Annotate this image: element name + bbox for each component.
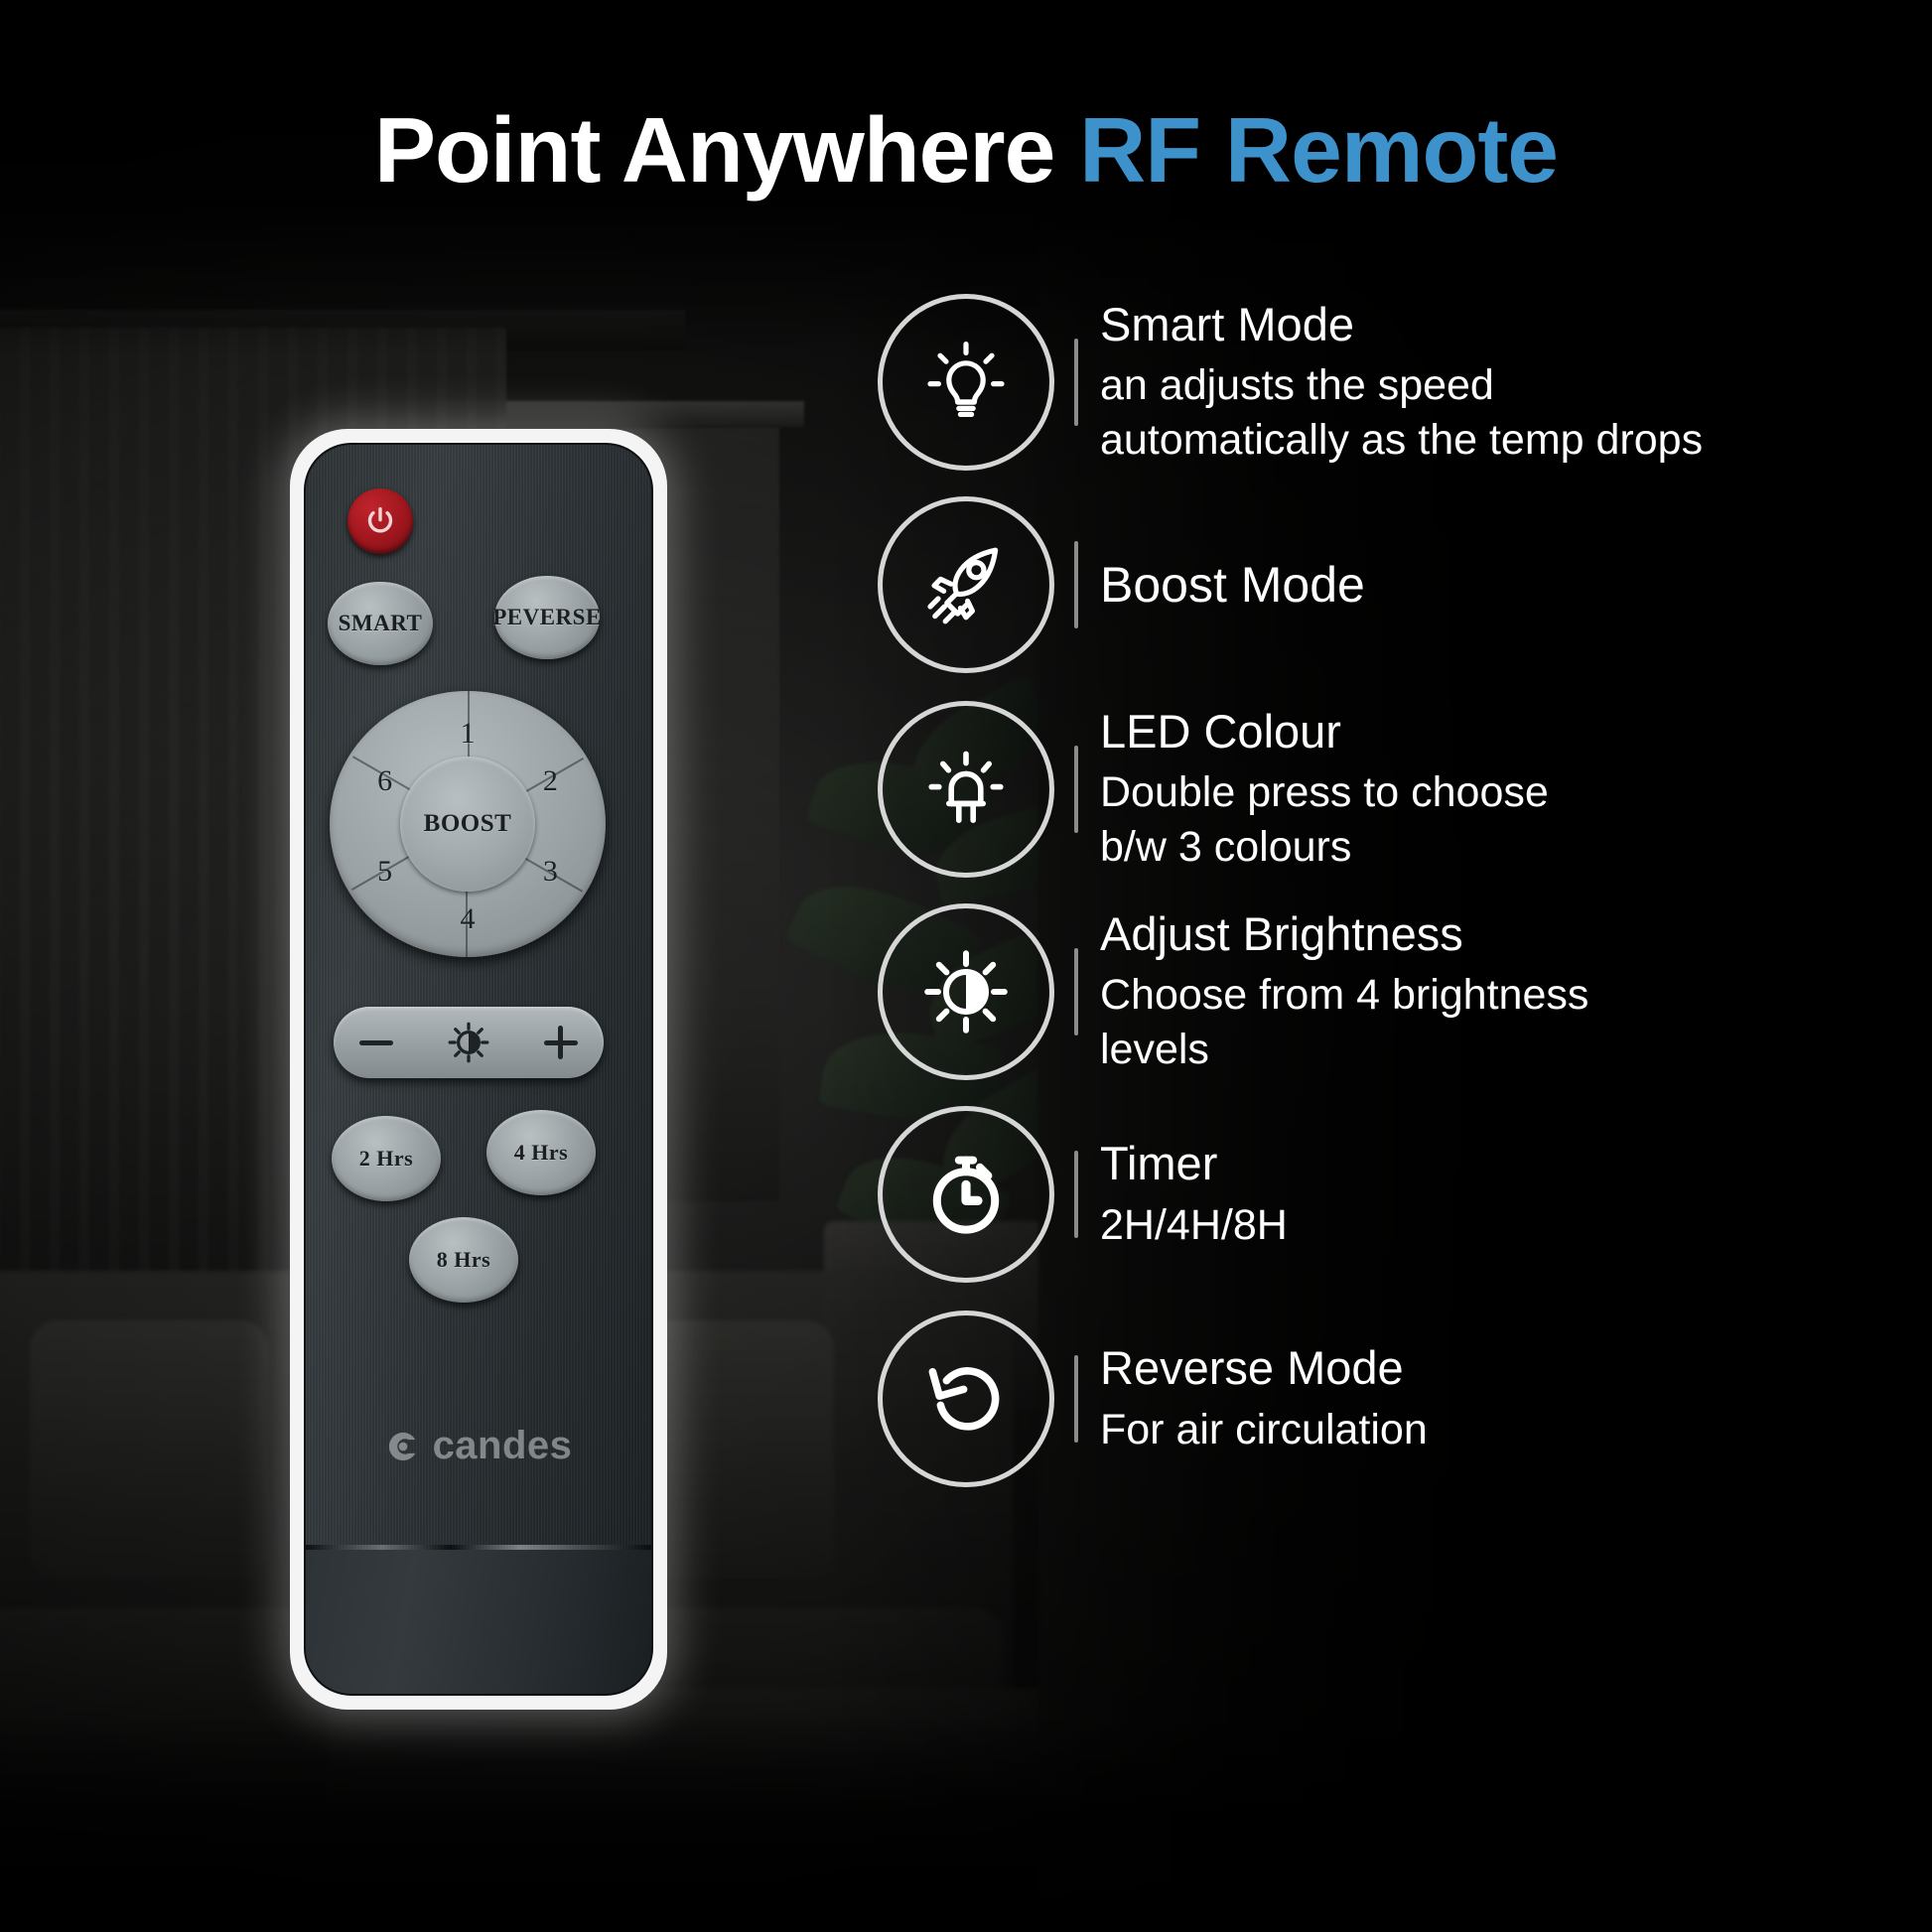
speed-dial[interactable]: 1 2 3 4 5 6 BOOST [330,691,606,957]
remote-body: SMART PEVERSE 1 2 3 4 5 6 BOOST [304,443,653,1696]
title-accent: RF Remote [1079,98,1558,202]
smart-button[interactable]: SMART [328,582,433,665]
feature-title: Boost Mode [1100,555,1932,615]
brightness-icon-circle [878,903,1054,1080]
feature-text: Adjust Brightness Choose from 4 brightne… [1100,906,1932,1077]
feature-divider [1074,1151,1078,1238]
feature-description: 2H/4H/8H [1100,1198,1932,1253]
feature-description: Choose from 4 brightness levels [1100,968,1932,1077]
title-main: Point Anywhere [374,98,1079,202]
feature-title: Adjust Brightness [1100,906,1932,962]
feature-timer: Timer 2H/4H/8H [878,1106,1932,1283]
power-icon [363,504,397,538]
feature-text: Boost Mode [1100,555,1932,615]
power-button[interactable] [347,488,413,554]
bulb-icon [918,335,1014,430]
boost-button-label: BOOST [424,810,512,838]
reverse-arrow-icon-circle [878,1311,1054,1487]
rocket-icon [918,537,1014,632]
feature-description: an adjusts the speed automatically as th… [1100,358,1932,468]
dial-number-2[interactable]: 2 [543,764,558,798]
feature-boost-mode: Boost Mode [878,496,1932,673]
brightness-icon [446,1020,491,1065]
brightness-icon [918,944,1014,1039]
feature-reverse-mode: Reverse Mode For air circulation [878,1311,1932,1487]
feature-adjust-brightness: Adjust Brightness Choose from 4 brightne… [878,903,1932,1080]
feature-list: Smart Mode an adjusts the speed automati… [878,294,1932,1487]
feature-title: Timer [1100,1136,1932,1191]
feature-title: LED Colour [1100,704,1932,759]
feature-text: Timer 2H/4H/8H [1100,1136,1932,1252]
dial-number-1[interactable]: 1 [461,717,476,751]
feature-text: Reverse Mode For air circulation [1100,1340,1932,1456]
timer-4h-button[interactable]: 4 Hrs [486,1110,596,1195]
timer-2h-label: 2 Hrs [359,1146,413,1172]
feature-text: LED Colour Double press to choose b/w 3 … [1100,704,1932,875]
feature-desc-line: an adjusts the speed [1100,358,1932,413]
feature-desc-line: automatically as the temp drops [1100,413,1932,468]
brightness-plus-icon[interactable] [544,1026,578,1059]
feature-title: Reverse Mode [1100,1340,1932,1396]
led-icon-circle [878,701,1054,878]
bulb-icon-circle [878,294,1054,471]
feature-text: Smart Mode an adjusts the speed automati… [1100,297,1932,468]
brightness-minus-icon[interactable] [359,1040,393,1045]
infographic-canvas: Point Anywhere RF Remote SMART PEVERSE [0,0,1932,1932]
feature-desc-line: levels [1100,1023,1932,1077]
feature-divider [1074,948,1078,1035]
rf-remote-control: SMART PEVERSE 1 2 3 4 5 6 BOOST [290,429,667,1710]
feature-desc-line: Double press to choose [1100,765,1932,820]
feature-divider [1074,746,1078,833]
brightness-bar[interactable] [334,1007,604,1078]
timer-8h-label: 8 Hrs [437,1247,490,1273]
reverse-button[interactable]: PEVERSE [494,576,600,659]
feature-divider [1074,541,1078,628]
dial-number-6[interactable]: 6 [377,764,392,798]
feature-divider [1074,1355,1078,1443]
stopwatch-icon [918,1147,1014,1242]
feature-title: Smart Mode [1100,297,1932,352]
feature-description: For air circulation [1100,1403,1932,1457]
stopwatch-icon-circle [878,1106,1054,1283]
led-icon [918,742,1014,837]
feature-divider [1074,339,1078,426]
feature-smart-mode: Smart Mode an adjusts the speed automati… [878,294,1932,471]
remote-lower-shell [306,1550,651,1694]
rocket-icon-circle [878,496,1054,673]
feature-description: Double press to choose b/w 3 colours [1100,765,1932,875]
reverse-button-label: PEVERSE [492,605,602,630]
candes-c-icon [385,1429,421,1464]
timer-4h-label: 4 Hrs [514,1140,568,1166]
feature-desc-line: Choose from 4 brightness [1100,968,1932,1023]
timer-8h-button[interactable]: 8 Hrs [409,1217,518,1303]
dial-number-4[interactable]: 4 [461,902,476,936]
feature-desc-line: 2H/4H/8H [1100,1198,1932,1253]
timer-2h-button[interactable]: 2 Hrs [332,1116,441,1201]
brand-name: candes [433,1424,573,1468]
page-title: Point Anywhere RF Remote [0,97,1932,204]
feature-desc-line: b/w 3 colours [1100,820,1932,875]
brand-logo: candes [306,1424,651,1468]
dial-number-3[interactable]: 3 [543,855,558,889]
dial-number-5[interactable]: 5 [377,855,392,889]
reverse-arrow-icon [918,1351,1014,1447]
boost-button[interactable]: BOOST [400,757,535,892]
smart-button-label: SMART [339,611,423,636]
feature-led-colour: LED Colour Double press to choose b/w 3 … [878,701,1932,878]
feature-desc-line: For air circulation [1100,1403,1932,1457]
